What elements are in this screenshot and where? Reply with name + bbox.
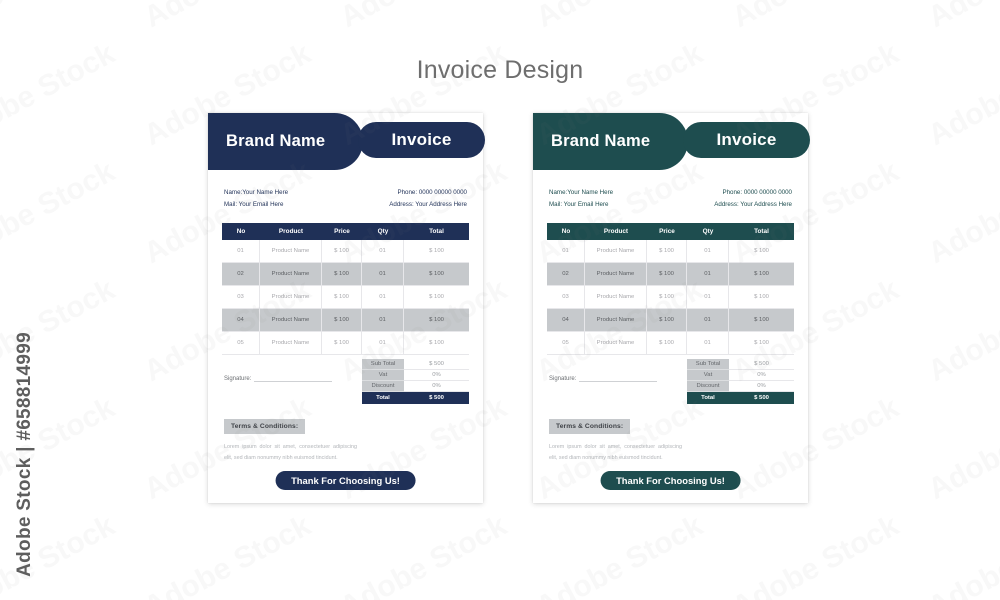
invoice-card-navy: Brand Name Invoice Name:Your Name Here M… (208, 113, 483, 503)
totals-label: Total (362, 392, 404, 404)
cell-price: $ 100 (647, 286, 687, 308)
cell-price: $ 100 (647, 240, 687, 262)
table-header-product: Product (585, 228, 647, 235)
cell-no: 03 (547, 286, 585, 308)
table-row: 04 Product Name $ 100 01 $ 100 (547, 309, 794, 332)
watermark-tile: Adobe Stock (923, 0, 1000, 35)
card-header: Brand Name Invoice (208, 113, 483, 170)
contact-block: Name:Your Name Here Mail: Your Email Her… (533, 170, 808, 211)
totals-value: 0% (729, 370, 794, 381)
watermark-tile: Adobe Stock (335, 509, 513, 600)
table-header-no: No (547, 228, 585, 235)
cell-price: $ 100 (322, 332, 362, 354)
invoice-card-teal: Brand Name Invoice Name:Your Name Here M… (533, 113, 808, 503)
watermark-tile: Adobe Stock (139, 0, 317, 35)
totals-label: Vat (687, 370, 729, 381)
cell-qty: 01 (362, 286, 404, 308)
brand-name: Brand Name (533, 132, 650, 151)
invoice-badge: Invoice (683, 122, 810, 158)
table-header-qty: Qty (362, 228, 404, 235)
cell-price: $ 100 (322, 309, 362, 331)
table-header-price: Price (322, 228, 362, 235)
cell-qty: 01 (362, 240, 404, 262)
totals-value: $ 500 (729, 359, 794, 370)
table-header-product: Product (260, 228, 322, 235)
terms-block: Terms & Conditions: Lorem ipsum dolor si… (224, 415, 384, 463)
table-header-total: Total (404, 228, 469, 235)
signature-field[interactable]: Signature: (224, 374, 332, 382)
thank-you-label: Thank For Choosing Us! (291, 475, 400, 486)
watermark-tile: Adobe Stock (531, 509, 709, 600)
cell-qty: 01 (687, 309, 729, 331)
cell-no: 01 (547, 240, 585, 262)
canvas: Adobe Stock | #658814999 Invoice Design … (0, 0, 1000, 600)
contact-phone: Phone: 0000 00000 0000 (389, 187, 467, 199)
signature-label: Signature: (549, 376, 576, 382)
items-table: NoProductPriceQtyTotal 01 Product Name $… (547, 223, 794, 355)
table-row: 01 Product Name $ 100 01 $ 100 (547, 240, 794, 263)
totals-value: $ 500 (404, 392, 469, 404)
brand-block: Brand Name (208, 113, 363, 170)
contact-left: Name:Your Name Here Mail: Your Email Her… (549, 187, 613, 211)
totals-value: 0% (404, 370, 469, 381)
thank-you-label: Thank For Choosing Us! (616, 475, 725, 486)
totals-label: Total (687, 392, 729, 404)
watermark-tile: Adobe Stock (531, 0, 709, 35)
contact-name: Name:Your Name Here (549, 187, 613, 199)
totals-row: Sub Total $ 500 (362, 359, 469, 370)
table-row: 01 Product Name $ 100 01 $ 100 (222, 240, 469, 263)
cell-no: 04 (547, 309, 585, 331)
terms-body: Lorem ipsum dolor sit amet, consectetuer… (549, 442, 682, 463)
watermark-tile: Adobe Stock (923, 391, 1000, 507)
contact-name: Name:Your Name Here (224, 187, 288, 199)
terms-body: Lorem ipsum dolor sit amet, consectetuer… (224, 442, 357, 463)
cell-total: $ 100 (404, 240, 469, 262)
cell-product: Product Name (260, 263, 322, 285)
table-header-qty: Qty (687, 228, 729, 235)
table-row: 03 Product Name $ 100 01 $ 100 (547, 286, 794, 309)
brand-block: Brand Name (533, 113, 688, 170)
page-title: Invoice Design (0, 56, 1000, 85)
cell-total: $ 100 (729, 240, 794, 262)
totals-row: Total $ 500 (687, 392, 794, 404)
table-header-row: NoProductPriceQtyTotal (222, 223, 469, 240)
terms-title: Terms & Conditions: (549, 419, 630, 434)
cell-product: Product Name (585, 286, 647, 308)
cell-price: $ 100 (322, 240, 362, 262)
totals-block: Sub Total $ 500 Vat 0% Discount 0% Total… (362, 359, 469, 404)
signature-line[interactable] (254, 374, 332, 382)
cell-no: 05 (547, 332, 585, 354)
invoice-badge: Invoice (358, 122, 485, 158)
card-header: Brand Name Invoice (533, 113, 808, 170)
totals-value: $ 500 (404, 359, 469, 370)
cell-total: $ 100 (404, 309, 469, 331)
thank-you-button[interactable]: Thank For Choosing Us! (600, 471, 741, 490)
cell-product: Product Name (260, 309, 322, 331)
cell-total: $ 100 (729, 332, 794, 354)
table-header-price: Price (647, 228, 687, 235)
cell-price: $ 100 (322, 263, 362, 285)
cell-total: $ 100 (404, 263, 469, 285)
totals-row: Vat 0% (362, 370, 469, 381)
table-header-no: No (222, 228, 260, 235)
signature-label: Signature: (224, 376, 251, 382)
totals-label: Sub Total (687, 359, 729, 370)
totals-value: $ 500 (729, 392, 794, 404)
table-header-row: NoProductPriceQtyTotal (547, 223, 794, 240)
totals-row: Vat 0% (687, 370, 794, 381)
contact-mail: Mail: Your Email Here (224, 199, 288, 211)
brand-name: Brand Name (208, 132, 325, 151)
totals-row: Discount 0% (687, 381, 794, 392)
watermark-tile: Adobe Stock (923, 509, 1000, 600)
invoice-badge-label: Invoice (392, 130, 452, 150)
table-row: 02 Product Name $ 100 01 $ 100 (547, 263, 794, 286)
contact-block: Name:Your Name Here Mail: Your Email Her… (208, 170, 483, 211)
watermark-tile: Adobe Stock (923, 155, 1000, 271)
cell-qty: 01 (362, 332, 404, 354)
watermark-tile: Adobe Stock (923, 37, 1000, 153)
totals-row: Total $ 500 (362, 392, 469, 404)
cell-no: 03 (222, 286, 260, 308)
contact-right: Phone: 0000 00000 0000 Address: Your Add… (714, 187, 792, 211)
cell-no: 02 (547, 263, 585, 285)
totals-label: Vat (362, 370, 404, 381)
table-row: 04 Product Name $ 100 01 $ 100 (222, 309, 469, 332)
terms-block: Terms & Conditions: Lorem ipsum dolor si… (549, 415, 709, 463)
watermark-tile: Adobe Stock (0, 155, 121, 271)
terms-title: Terms & Conditions: (224, 419, 305, 434)
totals-value: 0% (404, 381, 469, 392)
contact-right: Phone: 0000 00000 0000 Address: Your Add… (389, 187, 467, 211)
cell-price: $ 100 (647, 332, 687, 354)
totals-row: Discount 0% (362, 381, 469, 392)
cell-no: 05 (222, 332, 260, 354)
cell-no: 01 (222, 240, 260, 262)
signature-line[interactable] (579, 374, 657, 382)
cell-qty: 01 (687, 332, 729, 354)
cell-total: $ 100 (729, 286, 794, 308)
totals-label: Discount (362, 381, 404, 392)
cell-no: 02 (222, 263, 260, 285)
cell-total: $ 100 (729, 309, 794, 331)
table-header-total: Total (729, 228, 794, 235)
watermark-tile: Adobe Stock (335, 0, 513, 35)
items-table: NoProductPriceQtyTotal 01 Product Name $… (222, 223, 469, 355)
watermark-credit: Adobe Stock | #658814999 (14, 332, 36, 577)
table-row: 03 Product Name $ 100 01 $ 100 (222, 286, 469, 309)
cell-qty: 01 (362, 263, 404, 285)
cell-qty: 01 (362, 309, 404, 331)
invoice-badge-label: Invoice (717, 130, 777, 150)
cell-product: Product Name (260, 332, 322, 354)
cell-qty: 01 (687, 286, 729, 308)
totals-row: Sub Total $ 500 (687, 359, 794, 370)
contact-phone: Phone: 0000 00000 0000 (714, 187, 792, 199)
cell-product: Product Name (260, 286, 322, 308)
cell-qty: 01 (687, 240, 729, 262)
contact-address: Address: Your Address Here (714, 199, 792, 211)
contact-left: Name:Your Name Here Mail: Your Email Her… (224, 187, 288, 211)
watermark-tile: Adobe Stock (923, 273, 1000, 389)
table-row: 05 Product Name $ 100 01 $ 100 (547, 332, 794, 355)
cell-product: Product Name (585, 332, 647, 354)
cell-product: Product Name (585, 309, 647, 331)
cell-no: 04 (222, 309, 260, 331)
cell-product: Product Name (585, 263, 647, 285)
signature-field[interactable]: Signature: (549, 374, 657, 382)
cell-price: $ 100 (322, 286, 362, 308)
cell-price: $ 100 (647, 309, 687, 331)
watermark-tile: Adobe Stock (0, 0, 121, 35)
table-row: 02 Product Name $ 100 01 $ 100 (222, 263, 469, 286)
cell-product: Product Name (260, 240, 322, 262)
cell-price: $ 100 (647, 263, 687, 285)
watermark-tile: Adobe Stock (727, 0, 905, 35)
cell-total: $ 100 (729, 263, 794, 285)
totals-block: Sub Total $ 500 Vat 0% Discount 0% Total… (687, 359, 794, 404)
cell-total: $ 100 (404, 286, 469, 308)
watermark-tile: Adobe Stock (139, 509, 317, 600)
contact-address: Address: Your Address Here (389, 199, 467, 211)
totals-label: Discount (687, 381, 729, 392)
totals-value: 0% (729, 381, 794, 392)
watermark-tile: Adobe Stock (0, 37, 121, 153)
totals-label: Sub Total (362, 359, 404, 370)
table-row: 05 Product Name $ 100 01 $ 100 (222, 332, 469, 355)
watermark-tile: Adobe Stock (727, 509, 905, 600)
thank-you-button[interactable]: Thank For Choosing Us! (275, 471, 416, 490)
cell-qty: 01 (687, 263, 729, 285)
contact-mail: Mail: Your Email Here (549, 199, 613, 211)
cell-product: Product Name (585, 240, 647, 262)
cell-total: $ 100 (404, 332, 469, 354)
